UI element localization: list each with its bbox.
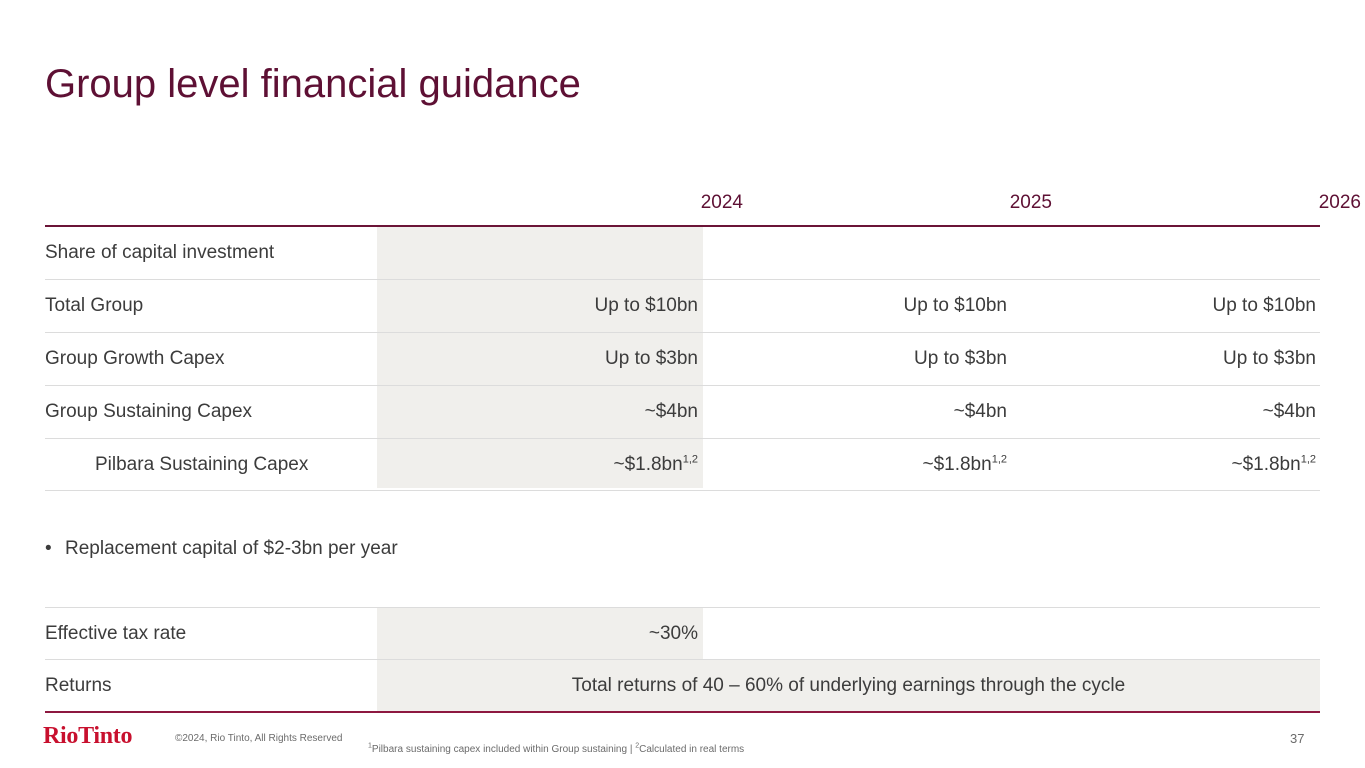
footnote-text: 1Pilbara sustaining capex included withi… [368, 743, 744, 757]
row-label-effective-tax-rate: Effective tax rate [45, 608, 186, 660]
cell-total-group-2024: Up to $10bn [377, 280, 698, 332]
bullet-marker-icon: • [45, 534, 59, 564]
table-row: Group Sustaining Capex ~$4bn ~$4bn ~$4bn [45, 386, 1320, 438]
column-header-2024: 2024 [422, 190, 743, 216]
page-number: 37 [1290, 730, 1320, 748]
footnote-2-text: Calculated in real terms [639, 744, 744, 755]
row-label-pilbara-sustaining-capex: Pilbara Sustaining Capex [95, 439, 308, 491]
footnote-ref: 1,2 [683, 454, 698, 466]
cell-returns-value: Total returns of 40 – 60% of underlying … [377, 660, 1320, 712]
table-row-section-header: Share of capital investment [45, 227, 1320, 279]
table-row: Total Group Up to $10bn Up to $10bn Up t… [45, 280, 1320, 332]
column-header-2025: 2025 [748, 190, 1052, 216]
cell-pilbara-sustaining-capex-2026: ~$1.8bn1,2 [1010, 439, 1316, 491]
footnote-1-text: Pilbara sustaining capex included within… [372, 744, 635, 755]
cell-value: ~$1.8bn [922, 454, 991, 475]
page-title: Group level financial guidance [45, 58, 581, 110]
cell-group-sustaining-capex-2024: ~$4bn [377, 386, 698, 438]
cell-total-group-2026: Up to $10bn [1010, 280, 1316, 332]
row-divider [45, 490, 1320, 491]
table-row-returns: Returns Total returns of 40 – 60% of und… [45, 660, 1320, 712]
table-column-header-row: 2024 2025 2026 [45, 190, 1320, 216]
row-label-share-of-capital-investment: Share of capital investment [45, 227, 274, 279]
cell-value: ~$1.8bn [1231, 454, 1300, 475]
footnote-ref: 1,2 [1301, 454, 1316, 466]
cell-effective-tax-rate-2024: ~30% [377, 608, 698, 660]
cell-value: ~$1.8bn [613, 454, 682, 475]
cell-group-growth-capex-2026: Up to $3bn [1010, 333, 1316, 385]
cell-pilbara-sustaining-capex-2024: ~$1.8bn1,2 [377, 439, 698, 491]
row-label-total-group: Total Group [45, 280, 143, 332]
cell-group-sustaining-capex-2025: ~$4bn [703, 386, 1007, 438]
cell-pilbara-sustaining-capex-2025: ~$1.8bn1,2 [703, 439, 1007, 491]
copyright-text: ©2024, Rio Tinto, All Rights Reserved [175, 732, 342, 746]
footnote-ref: 1,2 [992, 454, 1007, 466]
row-label-returns: Returns [45, 660, 112, 712]
column-header-2026: 2026 [1055, 190, 1361, 216]
table-row-effective-tax-rate: Effective tax rate ~30% [45, 608, 1320, 660]
table-row: Group Growth Capex Up to $3bn Up to $3bn… [45, 333, 1320, 385]
footer-divider [45, 711, 1320, 713]
cell-group-growth-capex-2025: Up to $3bn [703, 333, 1007, 385]
cell-group-sustaining-capex-2026: ~$4bn [1010, 386, 1316, 438]
rio-tinto-logo: RioTinto [43, 722, 132, 750]
cell-total-group-2025: Up to $10bn [703, 280, 1007, 332]
table-row: Pilbara Sustaining Capex ~$1.8bn1,2 ~$1.… [45, 439, 1320, 491]
row-label-group-growth-capex: Group Growth Capex [45, 333, 225, 385]
slide-canvas: Group level financial guidance 2024 2025… [0, 0, 1365, 768]
cell-group-growth-capex-2024: Up to $3bn [377, 333, 698, 385]
bullet-item: • Replacement capital of $2-3bn per year [45, 534, 945, 564]
row-label-group-sustaining-capex: Group Sustaining Capex [45, 386, 252, 438]
bullet-text: Replacement capital of $2-3bn per year [65, 534, 398, 564]
